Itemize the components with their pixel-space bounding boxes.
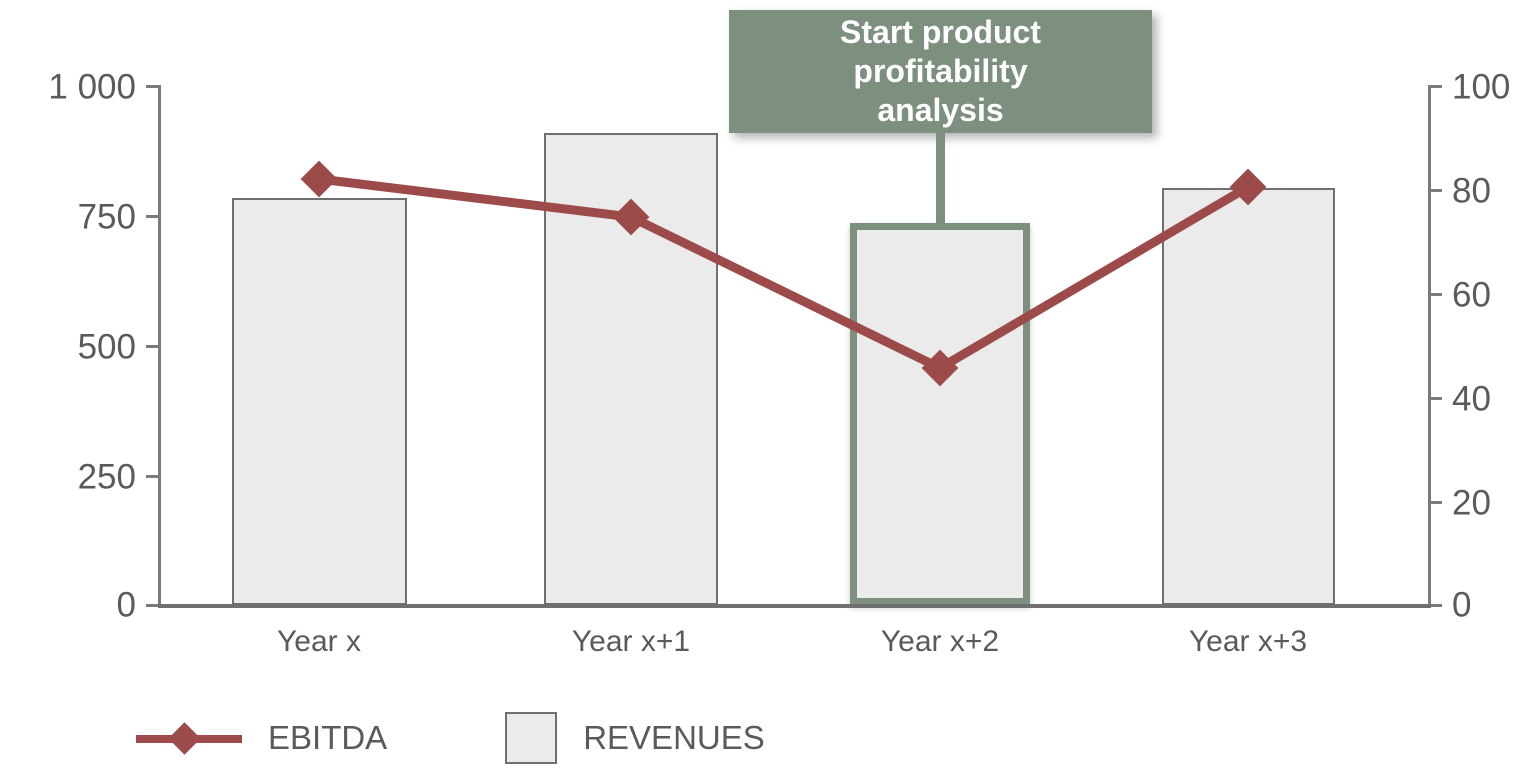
callout-text-line2: analysis — [877, 92, 1003, 128]
legend-item-revenues[interactable]: REVENUES — [505, 712, 765, 764]
bar-year-x-plus-1[interactable] — [544, 133, 718, 605]
left-axis-label-0: 0 — [117, 588, 136, 623]
bar-year-x-plus-3[interactable] — [1162, 188, 1335, 605]
left-axis-tick-750 — [146, 215, 160, 218]
left-axis-label-500: 500 — [78, 330, 136, 365]
left-axis-label-1000: 1 000 — [48, 70, 136, 105]
right-axis-label-0: 0 — [1452, 588, 1471, 623]
left-axis-tick-250 — [146, 475, 160, 478]
ebitda-marker-year-x — [301, 161, 338, 198]
callout-connector-line — [936, 133, 945, 225]
callout-text-line1: Start product profitability — [840, 14, 1041, 89]
left-axis-label-250: 250 — [78, 460, 136, 495]
left-axis-tick-500 — [146, 345, 160, 348]
right-axis-tick-40 — [1428, 397, 1442, 400]
right-axis-label-100: 100 — [1452, 70, 1510, 105]
right-axis-tick-60 — [1428, 293, 1442, 296]
chart-canvas: Start product profitability analysis 1 0… — [0, 0, 1536, 784]
chart-legend: EBITDA REVENUES — [136, 712, 765, 764]
bar-year-x-plus-2[interactable] — [850, 223, 1030, 605]
right-axis-label-40: 40 — [1452, 382, 1491, 417]
legend-box-icon — [505, 712, 557, 764]
legend-label-revenues: REVENUES — [583, 719, 765, 757]
callout-text: Start product profitability analysis — [749, 13, 1132, 130]
x-axis-label-year-x-plus-1: Year x+1 — [572, 625, 690, 659]
ebitda-polyline — [319, 179, 1248, 368]
bar-year-x[interactable] — [232, 198, 407, 605]
left-axis-label-750: 750 — [78, 200, 136, 235]
x-axis-label-year-x-plus-2: Year x+2 — [881, 625, 999, 659]
x-axis-label-year-x: Year x — [277, 625, 361, 659]
legend-label-ebitda: EBITDA — [268, 719, 387, 757]
right-axis-label-80: 80 — [1452, 174, 1491, 209]
right-axis-line — [1428, 85, 1431, 608]
right-axis-label-60: 60 — [1452, 278, 1491, 313]
legend-line-diamond-icon — [136, 721, 242, 755]
callout-annotation[interactable]: Start product profitability analysis — [729, 10, 1152, 133]
right-axis-tick-100 — [1428, 85, 1442, 88]
left-axis-tick-1000 — [146, 85, 160, 88]
legend-item-ebitda[interactable]: EBITDA — [136, 719, 387, 757]
x-axis-baseline — [158, 604, 1431, 608]
right-axis-tick-20 — [1428, 501, 1442, 504]
right-axis-label-20: 20 — [1452, 486, 1491, 521]
x-axis-label-year-x-plus-3: Year x+3 — [1189, 625, 1307, 659]
right-axis-tick-80 — [1428, 189, 1442, 192]
